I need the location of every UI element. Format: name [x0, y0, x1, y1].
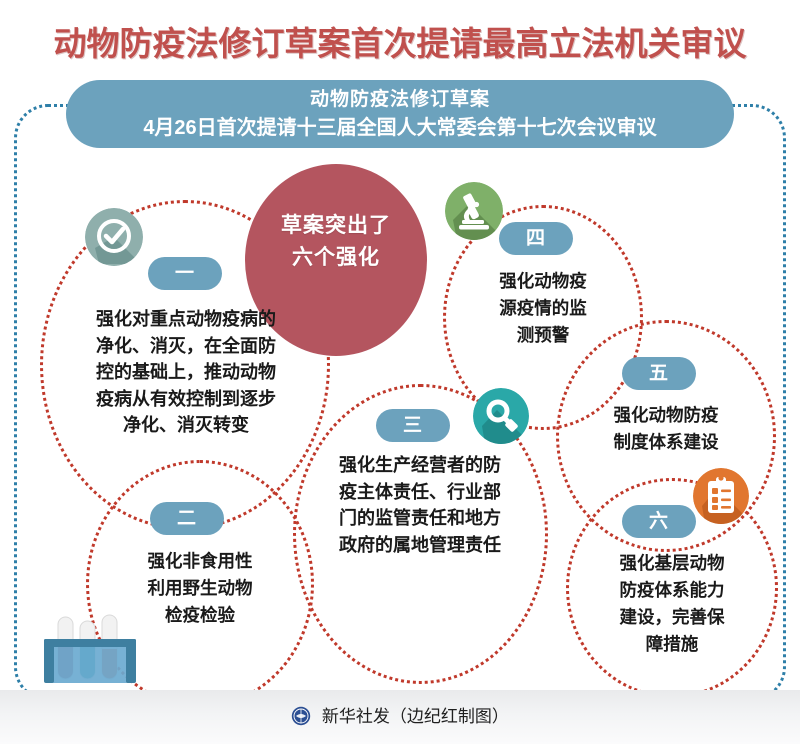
item-text-1: 强化对重点动物疫病的 净化、消灭，在全面防 控的基础上，推动动物 疫病从有效控制… — [55, 306, 317, 439]
item-number-pill-6: 六 — [622, 505, 696, 538]
item-text-5: 强化动物防疫 制度体系建设 — [560, 402, 772, 456]
item-number-pill-5: 五 — [622, 357, 696, 390]
item-body-1: 强化对重点动物疫病的 净化、消灭，在全面防 控的基础上，推动动物 疫病从有效控制… — [55, 306, 317, 439]
item-text-6: 强化基层动物 防疫体系能力 建设，完善保 障措施 — [568, 550, 776, 658]
microscope-icon — [445, 182, 503, 240]
item-body-5: 强化动物防疫 制度体系建设 — [560, 402, 772, 456]
banner-line-1: 动物防疫法修订草案 — [66, 87, 734, 113]
center-summary-text: 草案突出了 六个强化 — [245, 210, 427, 274]
check-circle-icon — [85, 208, 143, 266]
item-body-4: 强化动物疫 源疫情的监 测预警 — [449, 268, 637, 349]
item-number-pill-4: 四 — [499, 222, 573, 255]
clipboard-icon — [693, 468, 749, 524]
test-tubes-icon — [34, 613, 146, 696]
page-title: 动物防疫法修订草案首次提请最高立法机关审议 — [0, 24, 800, 64]
credit-line: 新华社发（边纪红制图） — [0, 702, 800, 731]
item-text-4: 强化动物疫 源疫情的监 测预警 — [449, 268, 637, 349]
magnifier-icon — [473, 388, 529, 444]
item-body-6: 强化基层动物 防疫体系能力 建设，完善保 障措施 — [568, 550, 776, 658]
item-number-pill-2: 二 — [150, 502, 224, 535]
item-number-pill-1: 一 — [148, 257, 222, 290]
banner-line-2: 4月26日首次提请十三届全国人大常委会第十七次会议审议 — [66, 113, 734, 143]
subtitle-banner: 动物防疫法修订草案 4月26日首次提请十三届全国人大常委会第十七次会议审议 — [66, 80, 734, 148]
item-text-3: 强化生产经营者的防 疫主体责任、行业部 门的监管责任和地方 政府的属地管理责任 — [296, 452, 544, 558]
xinhua-logo-icon — [291, 706, 311, 731]
infographic-canvas: 动物防疫法修订草案首次提请最高立法机关审议 草案突出了 六个强化 动物防疫法修订… — [0, 0, 800, 744]
item-number-pill-3: 三 — [376, 409, 450, 442]
item-body-3: 强化生产经营者的防 疫主体责任、行业部 门的监管责任和地方 政府的属地管理责任 — [296, 452, 544, 558]
credit-text: 新华社发（边纪红制图） — [322, 707, 509, 726]
